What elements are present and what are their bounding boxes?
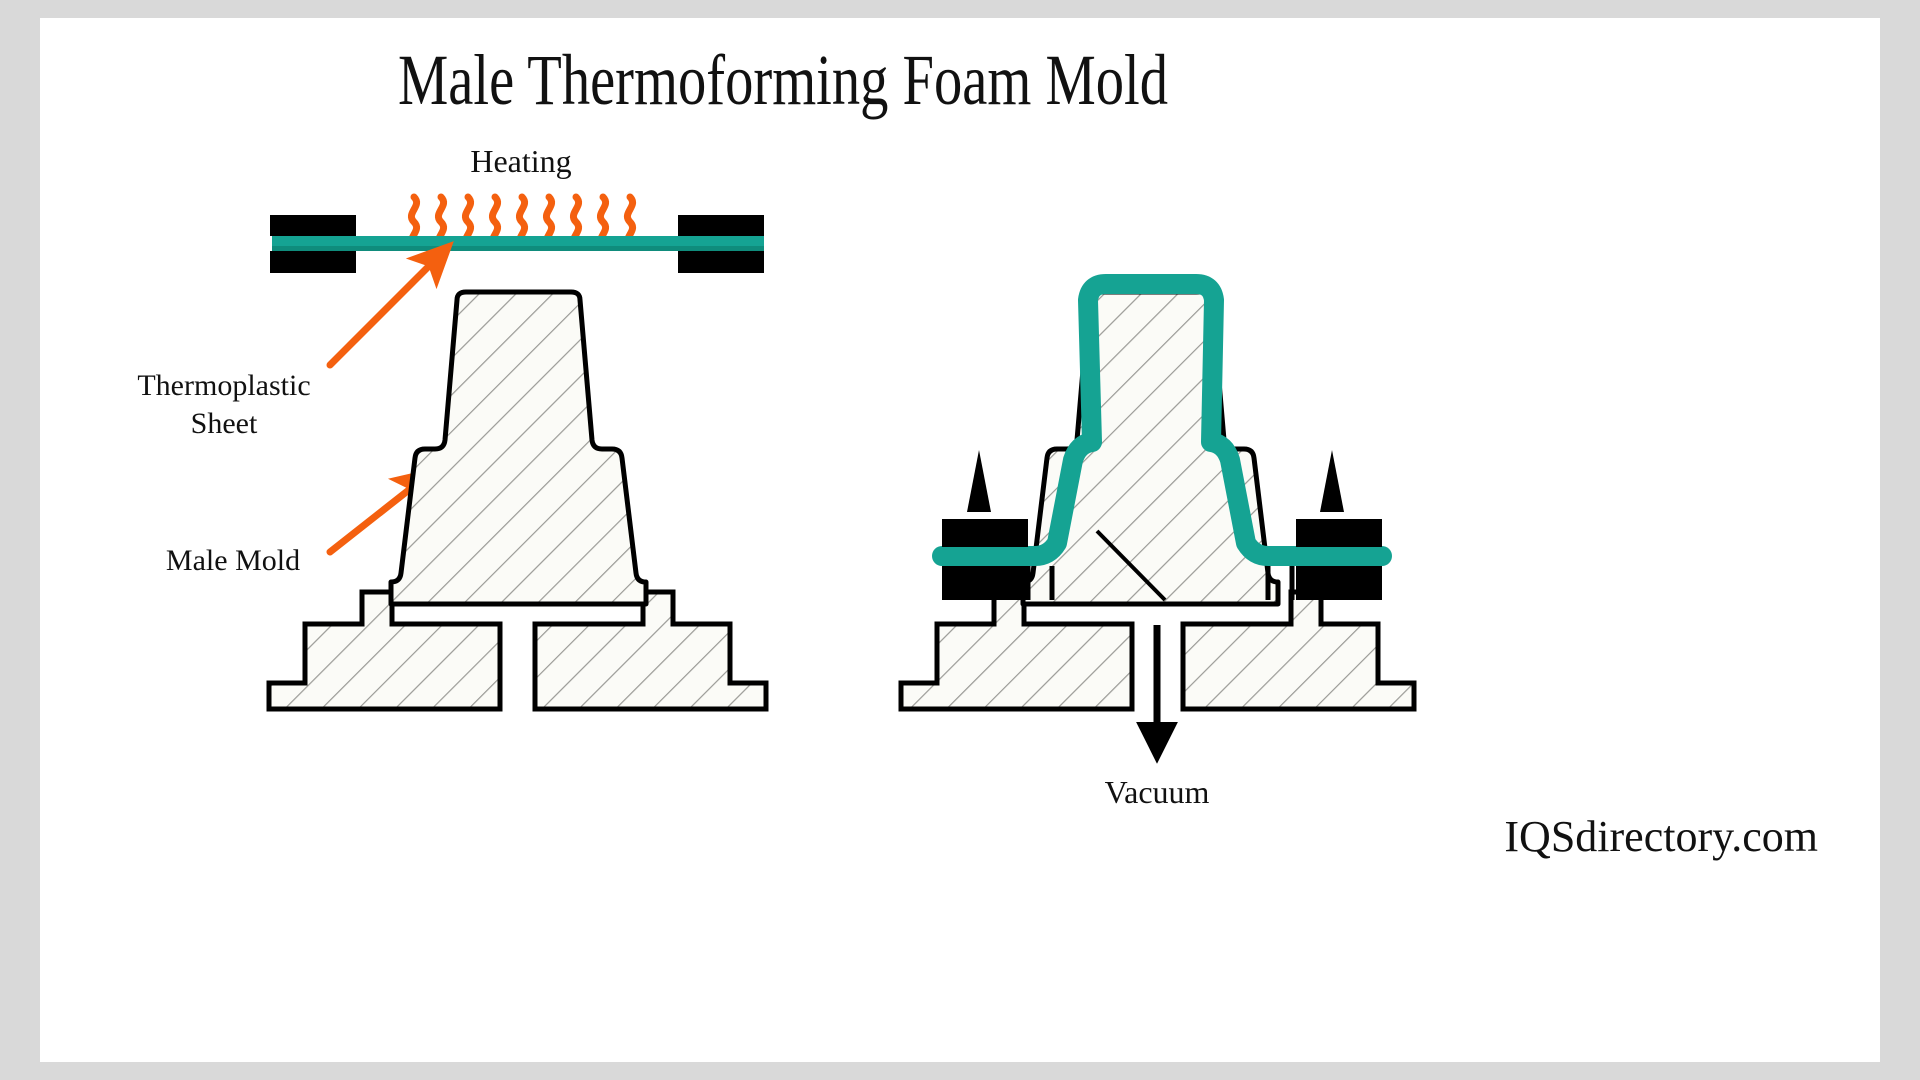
mold-base-left	[269, 592, 500, 709]
thermoplastic-sheet-label-line1: Thermoplastic	[137, 369, 310, 402]
page-title: Male Thermoforming Foam Mold	[398, 40, 1168, 120]
thermoplastic-sheet-shadow	[272, 246, 764, 251]
right-panel-vacuum-stage: Vacuum	[901, 284, 1414, 810]
clamp-left-upper	[942, 519, 1028, 547]
watermark: IQSdirectory.com	[1504, 812, 1818, 861]
air-flow-arrow-right	[1320, 450, 1344, 512]
left-panel-heating-stage: Heating	[137, 143, 766, 709]
diagram-svg: Male Thermoforming Foam Mold Heating	[0, 0, 1920, 1080]
male-mold-body	[391, 292, 646, 604]
male-mold-label: Male Mold	[166, 544, 300, 577]
mold-base-left	[901, 592, 1132, 709]
thermoplastic-sheet-leader-arrow	[330, 258, 437, 365]
clamp-right-upper	[1296, 519, 1382, 547]
heating-label: Heating	[470, 143, 571, 179]
clamp-right-lower	[678, 251, 764, 273]
figure-root: Male Thermoforming Foam Mold Heating	[0, 0, 1920, 1080]
thermoplastic-sheet-label-line2: Sheet	[191, 407, 258, 440]
male-mold-body	[1023, 292, 1278, 604]
clamp-right-upper	[678, 215, 764, 236]
mold-base-right	[535, 592, 766, 709]
air-flow-arrow-left	[967, 450, 991, 512]
clamp-left-lower	[270, 251, 356, 273]
clamp-left-upper	[270, 215, 356, 236]
mold-base-right	[1183, 592, 1414, 709]
clamp-left-lower	[942, 566, 1028, 600]
vacuum-label: Vacuum	[1105, 774, 1210, 810]
clamp-right-lower	[1296, 566, 1382, 600]
